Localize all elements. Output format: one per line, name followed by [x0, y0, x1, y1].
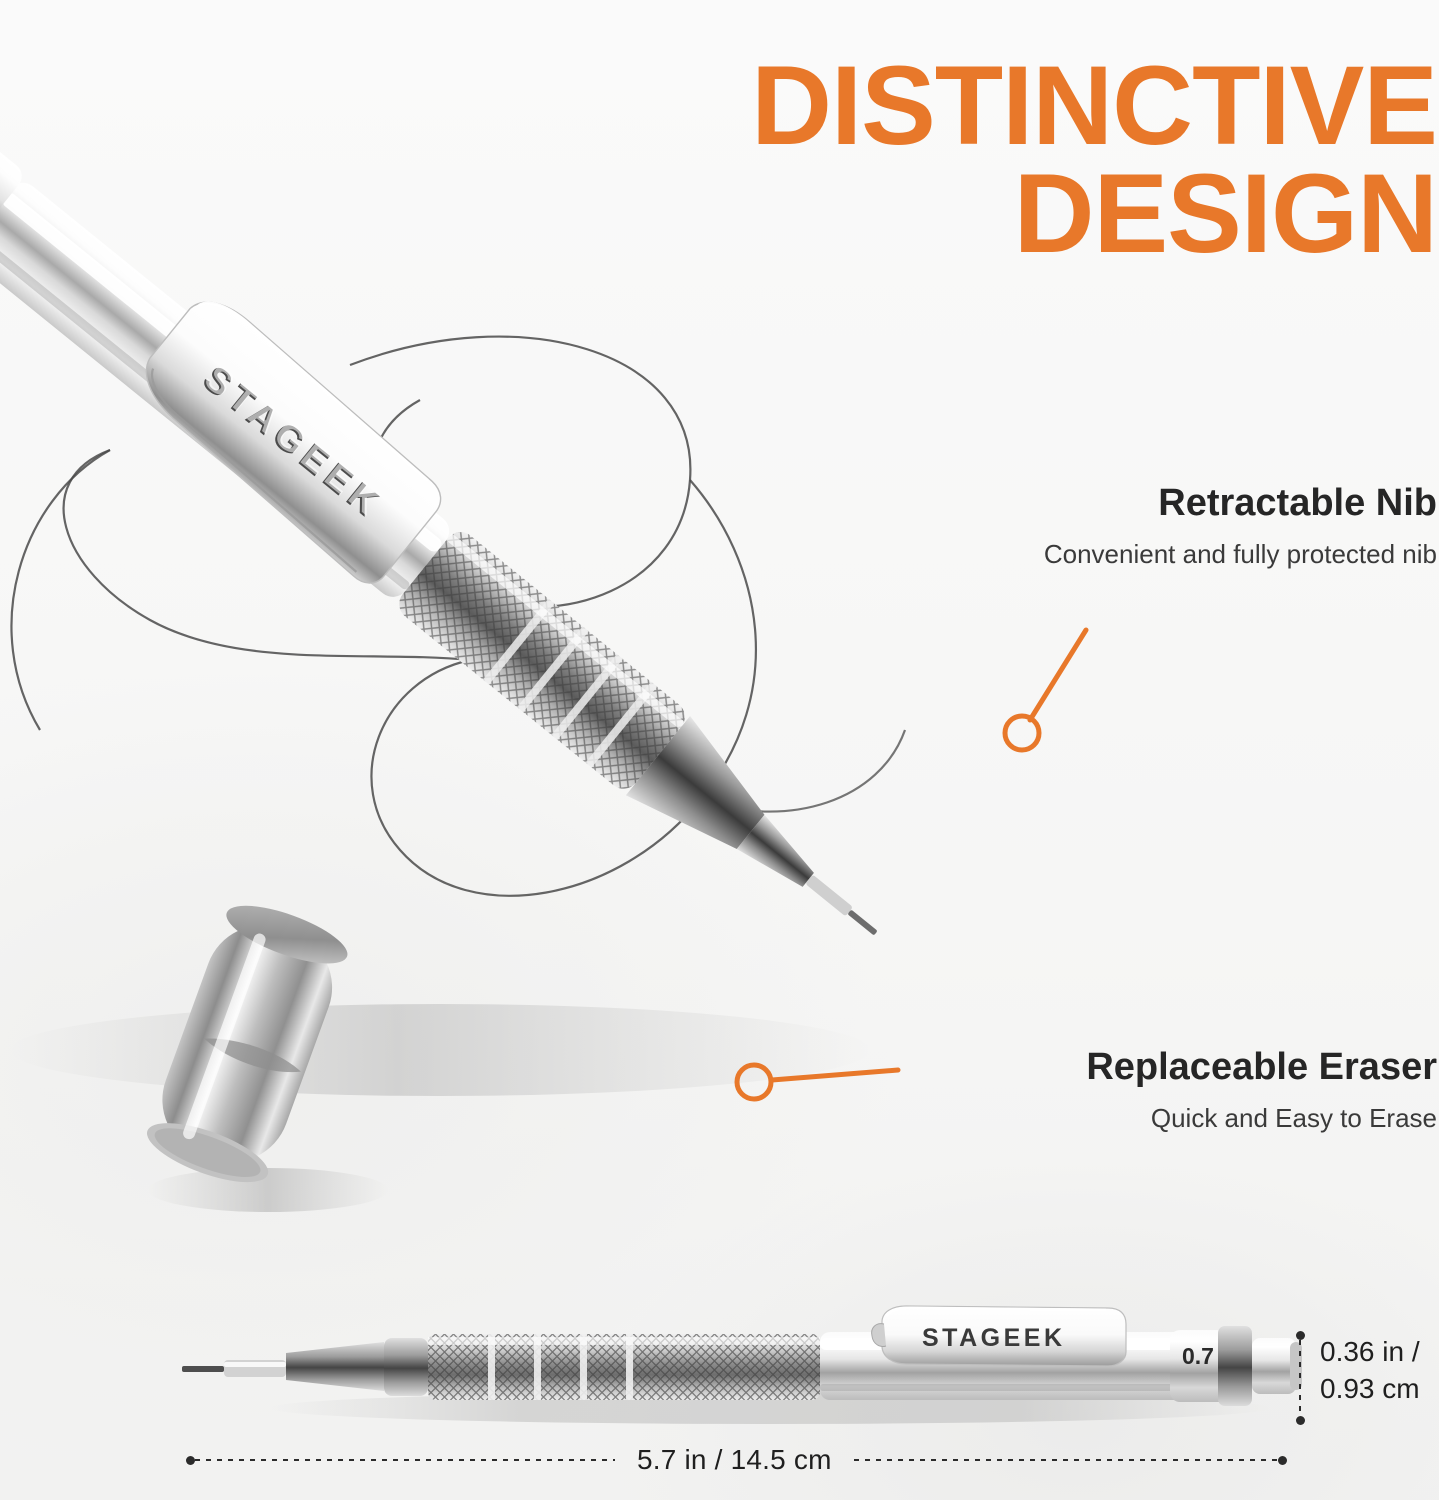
side-lead-tip [182, 1366, 224, 1372]
callout-retractable-nib: Retractable Nib Convenient and fully pro… [1044, 482, 1437, 571]
background-scribble-art [0, 330, 980, 1010]
callout-title-retractable-nib: Retractable Nib [1044, 482, 1437, 526]
side-rear-section: 0.7 [1170, 1326, 1302, 1406]
hero-rear-section: 0.7 [0, 120, 27, 258]
page-title: DISTINCTIVE DESIGN [751, 52, 1437, 267]
dimension-leader-vertical [1299, 1340, 1301, 1416]
leader-line-replaceable-eraser [730, 1048, 910, 1108]
side-clip: STAGEEK [872, 1306, 1126, 1366]
dimension-endpoint-bottom [1296, 1416, 1305, 1425]
dimension-diameter-label: 0.36 in / 0.93 cm [1320, 1334, 1420, 1408]
dimension-diameter-line-1: 0.36 in / [1320, 1334, 1420, 1371]
dimension-endpoint-left [186, 1456, 195, 1465]
callout-subtitle-replaceable-eraser: Quick and Easy to Erase [1086, 1102, 1437, 1136]
dimension-leader-right [854, 1459, 1278, 1461]
headline-line-2: DESIGN [751, 160, 1437, 268]
leader-line-retractable-nib [990, 620, 1110, 760]
side-lead-size-label: 0.7 [1182, 1343, 1214, 1369]
pencil-side-view: STAGEEK 0.7 [170, 1280, 1310, 1440]
callout-title-replaceable-eraser: Replaceable Eraser [1086, 1046, 1437, 1090]
product-feature-graphic: STAGEEK STAGEEK [0, 0, 1439, 1500]
hero-nib-tip [847, 909, 877, 935]
hero-clip: STAGEEK STAGEEK [124, 287, 455, 590]
dimension-endpoint-top [1296, 1331, 1305, 1340]
dimension-length: 5.7 in / 14.5 cm [186, 1449, 1298, 1471]
hero-brand-engraving: STAGEEK [195, 358, 390, 527]
callout-replaceable-eraser: Replaceable Eraser Quick and Easy to Era… [1086, 1046, 1437, 1135]
dimension-endpoint-right [1278, 1456, 1287, 1465]
hero-knurled-grip [393, 526, 692, 796]
side-knurled-grip [428, 1334, 820, 1400]
circle-marker-icon [737, 1065, 771, 1099]
callout-subtitle-retractable-nib: Convenient and fully protected nib [1044, 538, 1437, 572]
dimension-length-label: 5.7 in / 14.5 cm [615, 1444, 854, 1476]
dimension-diameter-line-2: 0.93 cm [1320, 1371, 1420, 1408]
svg-text:STAGEEK: STAGEEK [197, 357, 392, 526]
headline-line-1: DISTINCTIVE [751, 52, 1437, 160]
dimension-leader-left [195, 1459, 615, 1461]
circle-marker-icon [1005, 716, 1039, 750]
side-brand-engraving: STAGEEK [922, 1324, 1066, 1352]
hero-mechanical-pencil: STAGEEK STAGEEK [0, 120, 1080, 1200]
dimension-diameter [1294, 1331, 1306, 1425]
pencil-cap [118, 890, 398, 1230]
